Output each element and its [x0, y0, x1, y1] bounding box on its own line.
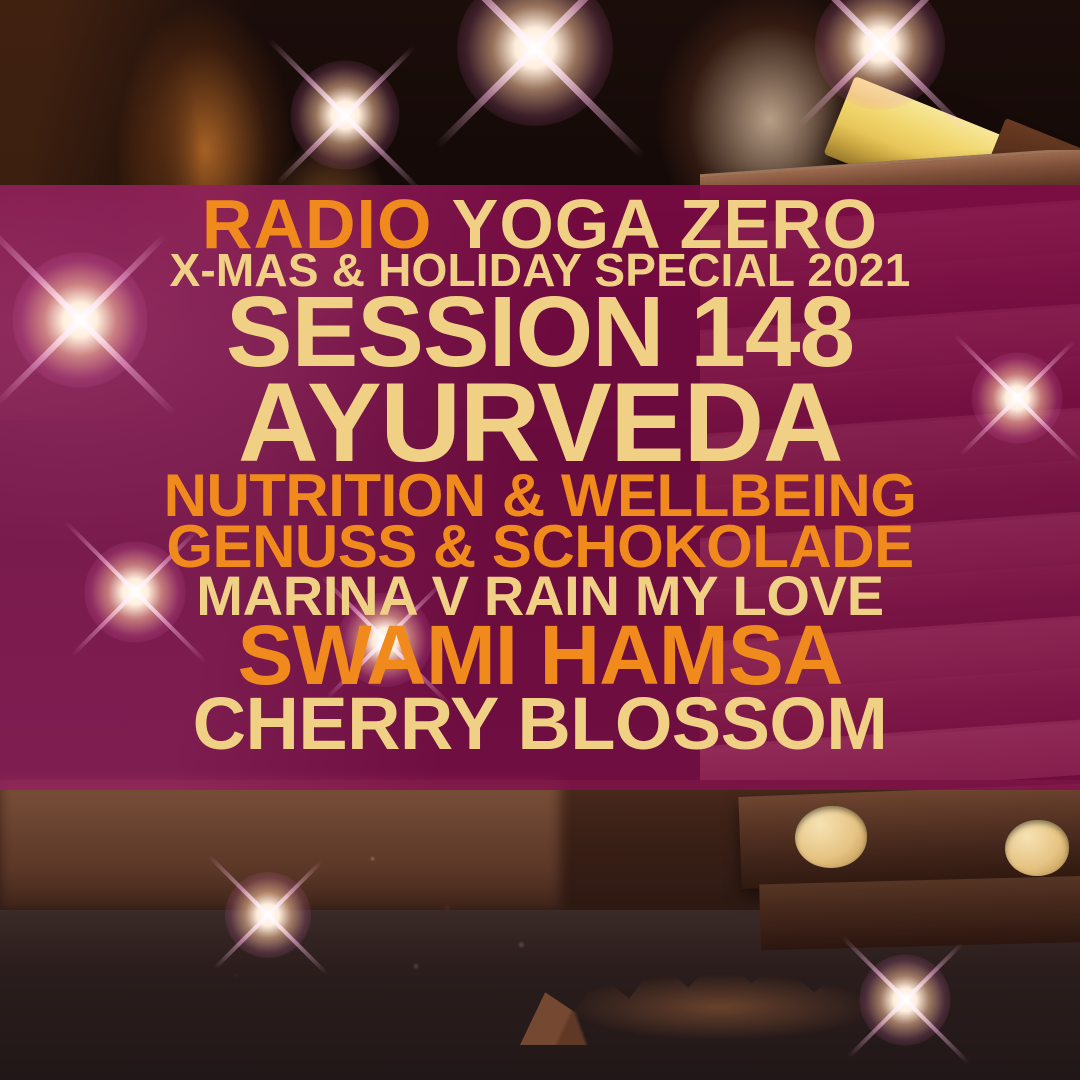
hazelnut-right — [1005, 820, 1069, 876]
poster-text-block: RADIO YOGA ZERO X-MAS & HOLIDAY SPECIAL … — [0, 196, 1080, 756]
chocolate-bar-lower — [759, 876, 1080, 951]
poster-canvas: RADIO YOGA ZERO X-MAS & HOLIDAY SPECIAL … — [0, 0, 1080, 1080]
artist-swami-line: SWAMI HAMSA — [0, 619, 1080, 691]
theme-line: AYURVEDA — [0, 375, 1080, 471]
track-cherry-line: CHERRY BLOSSOM — [0, 691, 1080, 756]
hazelnut-left — [795, 806, 867, 868]
